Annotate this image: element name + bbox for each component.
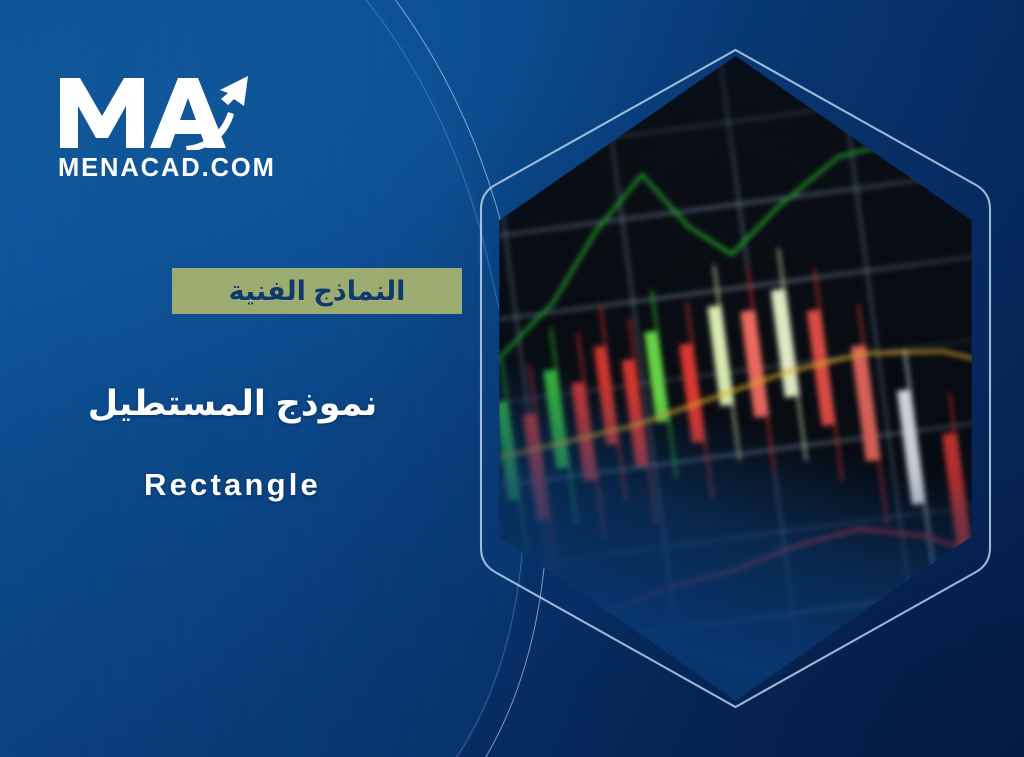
category-badge: النماذج الفنية — [172, 268, 462, 314]
arrow-head-icon — [220, 76, 248, 106]
logo-mark-ma — [58, 72, 273, 150]
page-title-arabic: نموذج المستطيل — [0, 384, 465, 424]
media-hexagon — [487, 56, 984, 701]
page-title-english: Rectangle — [0, 467, 465, 503]
logo-wordmark: MENACAD.COM — [58, 156, 318, 182]
letter-m-glyph — [60, 78, 144, 148]
brand-logo[interactable]: MENACAD.COM — [58, 72, 318, 182]
promo-card: MENACAD.COM النماذج الفنية نموذج المستطي… — [0, 0, 1024, 757]
category-badge-label: النماذج الفنية — [229, 278, 406, 305]
